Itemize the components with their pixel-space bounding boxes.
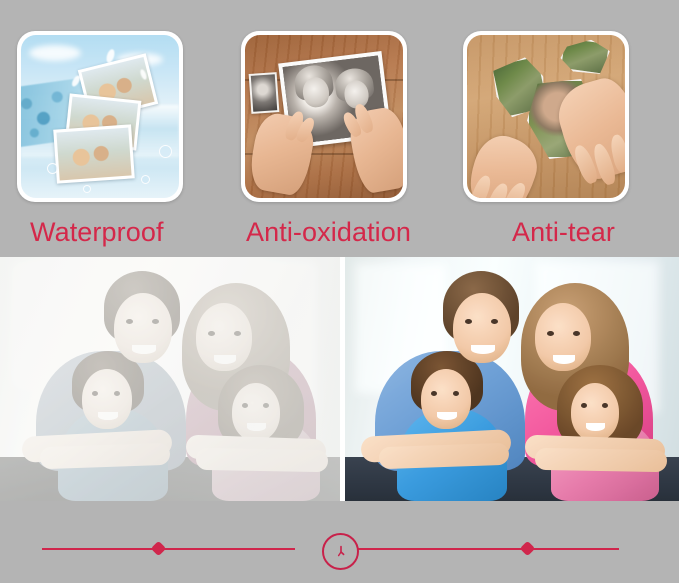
before-after-comparison [0, 257, 679, 501]
family-portrait-vivid [345, 257, 679, 501]
comparison-after-photo [345, 257, 679, 501]
waterproof-image [21, 35, 179, 198]
water-droplet [83, 185, 91, 193]
feature-card-anti-oxidation[interactable] [241, 31, 407, 202]
water-droplet [159, 145, 172, 158]
feature-label-anti-tear: Anti-tear [512, 215, 615, 249]
water-droplet [141, 175, 150, 184]
feature-card-waterproof[interactable] [17, 31, 183, 202]
feature-card-anti-tear[interactable] [463, 31, 629, 202]
divider-diamond-dot [520, 541, 536, 557]
background-photo [249, 72, 280, 114]
comparison-before-photo [0, 257, 340, 501]
decorative-divider [0, 515, 679, 583]
feature-label-waterproof: Waterproof [30, 215, 164, 249]
water-droplet [47, 163, 58, 174]
divider-diamond-dot [151, 541, 167, 557]
feature-cards-row: Waterproof Anti-oxidation Anti-tear [0, 0, 679, 252]
divider-line-right [355, 548, 619, 550]
anti-oxidation-image [245, 35, 403, 198]
divider-line-left [42, 548, 295, 550]
clock-ornament-icon [334, 545, 348, 559]
anti-tear-image [467, 35, 625, 198]
divider-center-circle [322, 533, 359, 570]
floating-photo [53, 124, 135, 183]
feature-label-anti-oxidation: Anti-oxidation [246, 215, 411, 249]
cloud-shape [29, 45, 81, 61]
product-feature-page: Waterproof Anti-oxidation Anti-tear [0, 0, 679, 583]
family-portrait-faded [0, 257, 340, 501]
